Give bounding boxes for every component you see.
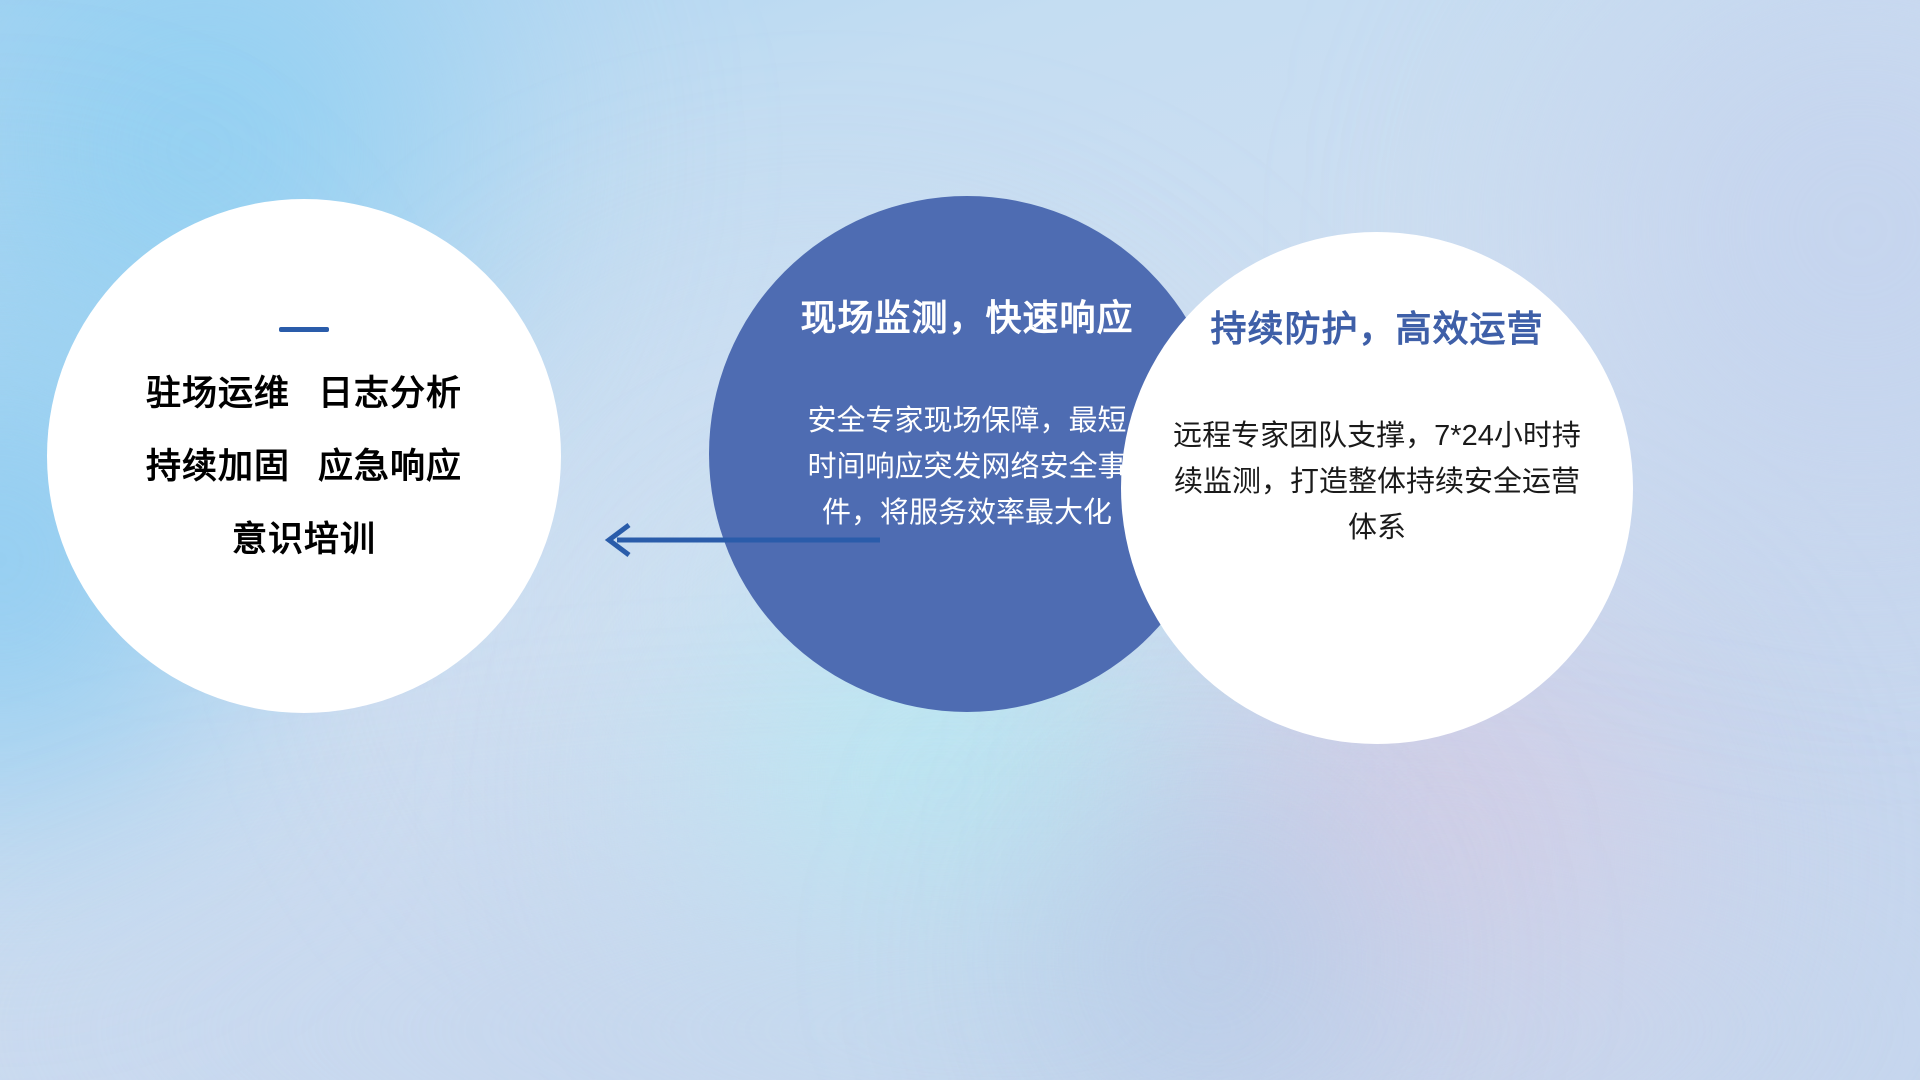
onsite-monitoring-title: 现场监测，快速响应 [800,296,1133,339]
leftward-flow-arrow [595,515,885,565]
capability-tag-continuous-hardening: 持续加固 [146,447,290,486]
divider-icon [279,327,329,332]
capability-tag-log-analysis: 日志分析 [318,374,462,413]
capability-tag-emergency-response: 应急响应 [318,447,462,486]
capability-tag-onsite-ops: 驻场运维 [146,374,290,413]
continuous-protection-title: 持续防护，高效运营 [1210,307,1543,350]
continuous-protection-body: 远程专家团队支撑，7*24小时持续监测，打造整体持续安全运营体系 [1171,414,1583,551]
capability-row-3: 意识培训 [232,522,376,557]
continuous-protection-circle[interactable]: 持续防护，高效运营 远程专家团队支撑，7*24小时持续监测，打造整体持续安全运营… [1121,232,1633,744]
capabilities-circle[interactable]: 驻场运维日志分析 持续加固应急响应 意识培训 [47,199,561,713]
slide-canvas: 驻场运维日志分析 持续加固应急响应 意识培训 现场监测，快速响应 安全专家现场保… [0,0,1920,1080]
capability-tag-awareness-training: 意识培训 [232,520,376,559]
capability-row-1: 驻场运维日志分析 [146,376,462,411]
capability-row-2: 持续加固应急响应 [146,449,462,484]
